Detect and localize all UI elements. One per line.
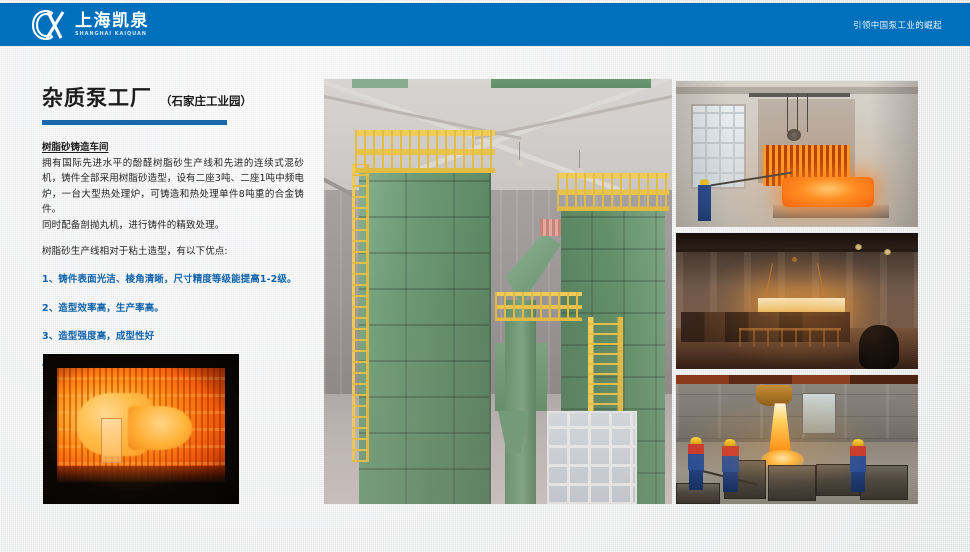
title-row: 杂质泵工厂 （石家庄工业园） (42, 82, 304, 112)
section-heading: 树脂砂铸造车间 (42, 139, 304, 153)
advantage-item-1: 1、铸件表面光洁、棱角清晰，尺寸精度等级能提高1-2级。 (42, 273, 304, 286)
scene-warm-overlay (676, 375, 918, 504)
logo-english-name: SHANGHAI KAIQUAN (75, 32, 149, 37)
advantages-lead-in: 树脂砂生产线相对于粘土造型，有以下优点: (42, 244, 304, 259)
furnace-scene (43, 354, 239, 504)
page-title: 杂质泵工厂 (42, 82, 152, 112)
scene-haze-overlay (324, 79, 672, 504)
photo-resin-sand-moulding-workshop-interior (324, 79, 672, 504)
company-logo[interactable]: 上海凯泉 SHANGHAI KAIQUAN (30, 8, 149, 42)
crane-scene (676, 233, 918, 369)
photo-molten-metal-pouring-operation (676, 375, 918, 504)
logo-chinese-name: 上海凯泉 (75, 13, 149, 30)
slide-canvas: 上海凯泉 SHANGHAI KAIQUAN 引领中国泵工业的崛起 杂质泵工厂 （… (0, 0, 970, 552)
header-tagline: 引领中国泵工业的崛起 (853, 3, 942, 46)
workshop-scene (324, 79, 672, 504)
title-underline-rule (42, 120, 227, 125)
photo-heat-treatment-furnace-loading (676, 81, 918, 227)
page-header: 上海凯泉 SHANGHAI KAIQUAN 引领中国泵工业的崛起 (0, 3, 970, 46)
photo-heat-treatment-furnace-interior-glowing (43, 354, 239, 504)
photo-crane-lifting-hot-casting (676, 233, 918, 369)
logo-text: 上海凯泉 SHANGHAI KAIQUAN (75, 13, 149, 37)
scene-glow-overlay (676, 233, 918, 369)
body-text: 树脂砂铸造车间 拥有国际先进水平的酚醛树脂砂生产线和先进的连续式混砂机，铸件全部… (42, 139, 304, 371)
heattreat-scene (676, 81, 918, 227)
pouring-scene (676, 375, 918, 504)
furnace-glow-overlay (43, 354, 239, 504)
text-column: 杂质泵工厂 （石家庄工业园） 树脂砂铸造车间 拥有国际先进水平的酚醛树脂砂生产线… (42, 82, 304, 371)
advantage-item-2: 2、造型效率高，生产率高。 (42, 302, 304, 315)
kaiquan-pump-logo-icon (30, 9, 68, 41)
paragraph-1: 拥有国际先进水平的酚醛树脂砂生产线和先进的连续式混砂机，铸件全部采用树脂砂造型，… (42, 156, 304, 218)
scene-shading-overlay (676, 81, 918, 227)
advantage-item-3: 3、造型强度高，成型性好 (42, 330, 304, 343)
paragraph-2: 同时配备剖抛丸机，进行铸件的精致处理。 (42, 218, 304, 233)
page-subtitle: （石家庄工业园） (160, 93, 252, 109)
